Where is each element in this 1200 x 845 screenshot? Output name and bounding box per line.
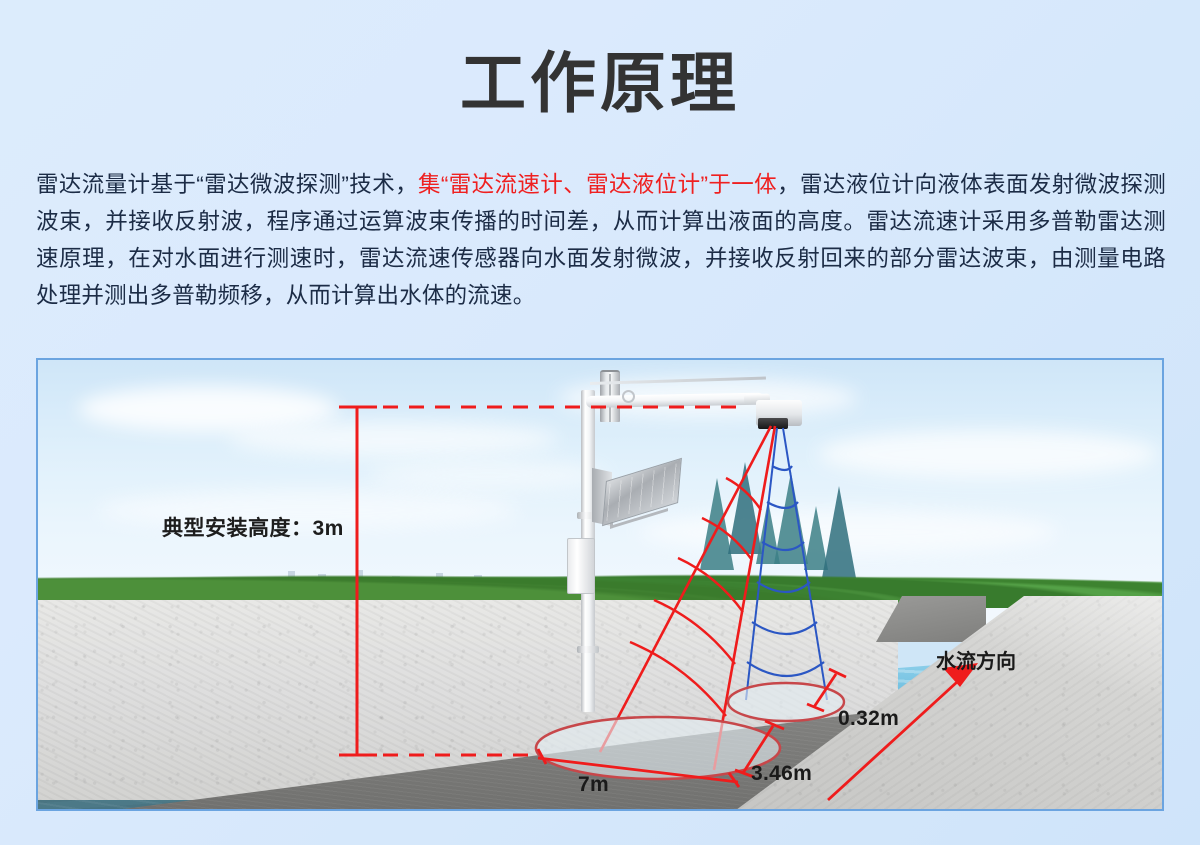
- principle-diagram: 典型安装高度：3m 7m 3.46m 0.32m 水流方向: [36, 358, 1164, 811]
- intro-text-part-1: 雷达流量计基于“雷达微波探测”技术，: [36, 172, 418, 197]
- dimension-label-0-32m: 0.32m: [838, 707, 899, 731]
- velocity-beam-footprint: [536, 717, 780, 779]
- dimension-label-3-46m: 3.46m: [751, 762, 812, 786]
- install-height-dimension: [339, 407, 377, 755]
- page-title: 工作原理: [0, 44, 1200, 122]
- flow-direction-label: 水流方向: [936, 645, 1016, 674]
- intro-highlight: 集“雷达流速计、雷达液位计”于一体: [418, 172, 777, 197]
- height-reference-dashed-lines: [383, 407, 738, 755]
- level-radar-cone: [746, 428, 827, 700]
- dimension-label-7m: 7m: [578, 773, 609, 797]
- radar-beam-overlay: [38, 360, 1162, 809]
- install-height-label: 典型安装高度：3m: [162, 512, 344, 542]
- flow-direction-arrow-icon: [828, 663, 978, 800]
- intro-paragraph: 雷达流量计基于“雷达微波探测”技术，集“雷达流速计、雷达液位计”于一体，雷达液位…: [36, 166, 1166, 314]
